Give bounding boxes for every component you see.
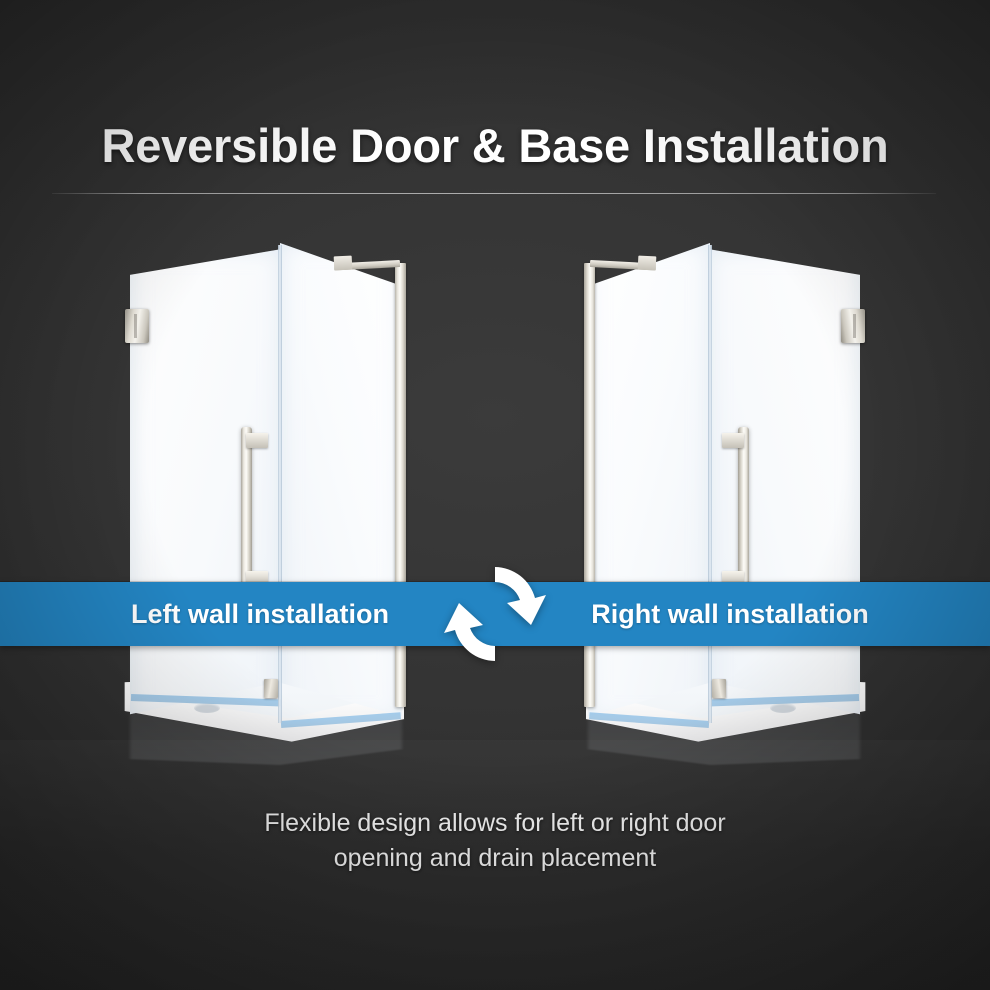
door-hinge-icon: [125, 309, 149, 343]
support-bar-clip: [638, 256, 657, 271]
caption-line-2: opening and drain placement: [0, 841, 990, 876]
support-bar-clip: [334, 256, 353, 271]
door-handle: [241, 427, 252, 589]
caption: Flexible design allows for left or right…: [0, 806, 990, 876]
shower-enclosure-left: [112, 243, 408, 765]
door-hinge-icon: [841, 309, 865, 343]
glass-bottom-clip: [264, 679, 278, 698]
glass-door-panel: [708, 249, 860, 719]
marketing-image: Reversible Door & Base Installation: [0, 0, 990, 990]
caption-line-1: Flexible design allows for left or right…: [0, 806, 990, 841]
door-handle: [738, 427, 749, 589]
glass-panel-side: [280, 243, 402, 721]
corner-seam: [708, 245, 712, 723]
shower-enclosure-right: [582, 243, 878, 765]
glass-panel-side: [588, 243, 710, 721]
glass-door-panel: [130, 249, 282, 719]
handle-standoff-top: [246, 433, 268, 448]
drain-icon: [194, 703, 220, 713]
page-title: Reversible Door & Base Installation: [0, 118, 990, 173]
glass-bottom-clip: [712, 679, 726, 698]
title-divider: [52, 193, 936, 194]
banner-label-left: Left wall installation: [112, 582, 408, 646]
drain-icon: [770, 703, 796, 713]
circular-swap-arrows-icon: [443, 557, 547, 671]
corner-seam: [278, 245, 282, 723]
handle-standoff-top: [722, 433, 744, 448]
banner-label-right: Right wall installation: [582, 582, 878, 646]
